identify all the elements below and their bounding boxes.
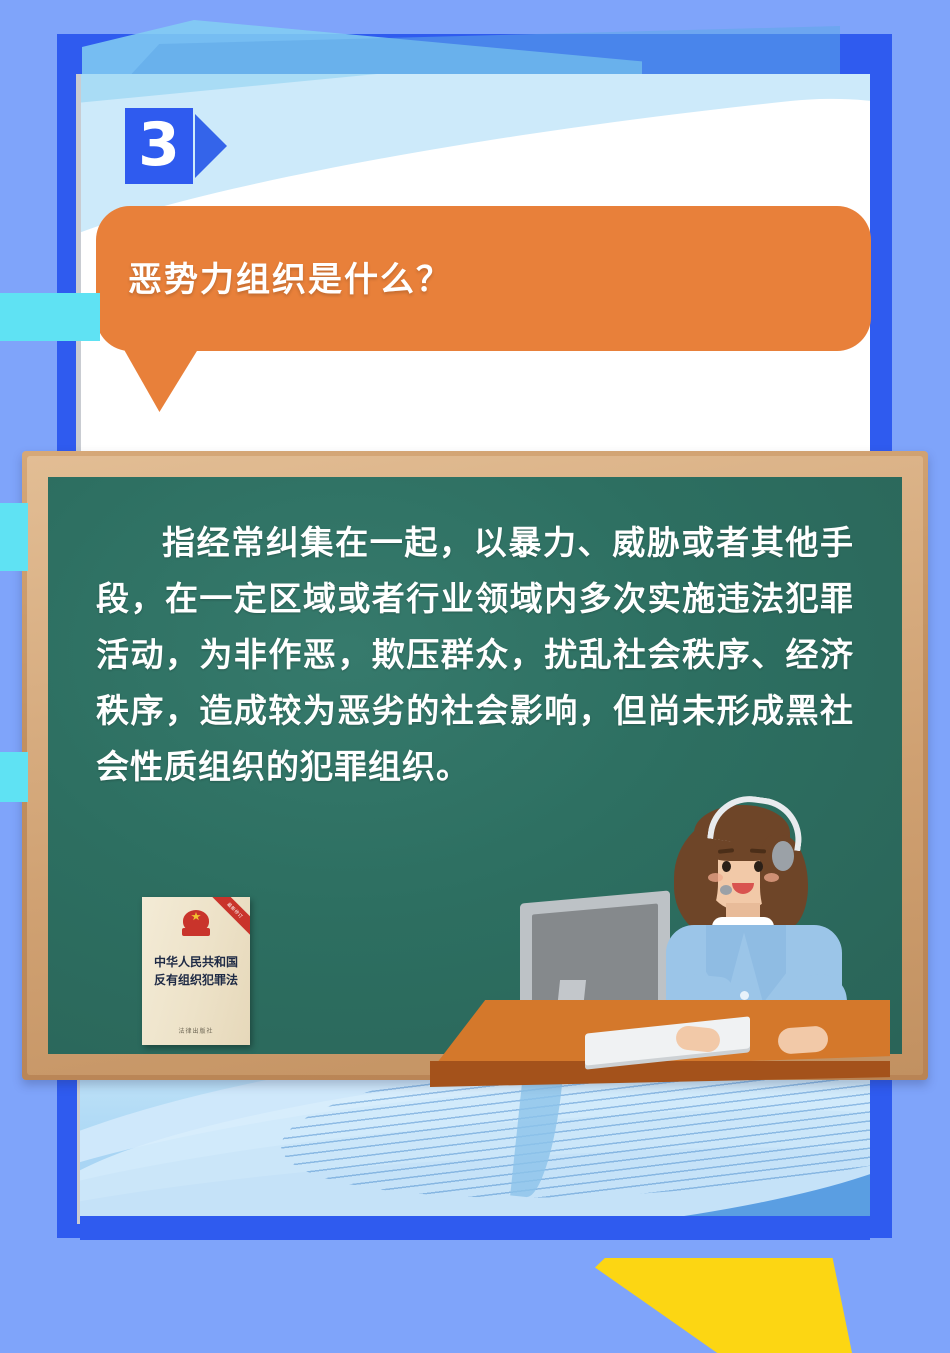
headset-earpad-icon <box>772 841 794 871</box>
book-corner-ribbon: 最新修订 <box>210 897 250 937</box>
jacket-button-1 <box>740 991 749 1000</box>
eye-right <box>754 861 763 872</box>
desk-edge <box>430 1061 890 1087</box>
book-title-line2: 反有组织犯罪法 <box>142 971 250 988</box>
poster-stage: 3 恶势力组织是什么？ 指经常纠集在一起，以暴力、威胁或者其他手段，在一定区域或… <box>0 0 950 1353</box>
eye-left <box>722 861 731 872</box>
step-number-label: 3 <box>125 108 193 184</box>
book-ribbon-label: 最新修订 <box>210 897 250 936</box>
headset-microphone-icon <box>720 885 732 895</box>
step-number-badge: 3 <box>125 108 197 184</box>
question-speech-bubble: 恶势力组织是什么？ <box>96 206 871 351</box>
law-book: 中华人民共和国 反有组织犯罪法 法律出版社 最新修订 <box>142 897 250 1045</box>
book-publisher: 法律出版社 <box>142 1026 250 1035</box>
cyan-tab-top <box>0 293 100 341</box>
emblem-base <box>182 928 210 936</box>
monitor-screen <box>532 903 658 1014</box>
bottom-blue-bar <box>80 1216 870 1240</box>
cheek-left <box>708 873 723 882</box>
operator-illustration <box>430 775 910 1115</box>
question-title: 恶势力组织是什么？ <box>128 252 452 301</box>
chevron-right-icon <box>195 114 227 178</box>
card-left-shadow <box>76 74 81 458</box>
yellow-triangle-decoration <box>595 1258 925 1353</box>
cheek-right <box>764 873 779 882</box>
hand-right <box>777 1025 829 1054</box>
cyan-tab-middle-upper <box>0 503 28 571</box>
book-title-line1: 中华人民共和国 <box>142 953 250 970</box>
blackboard-body-text: 指经常纠集在一起，以暴力、威胁或者其他手段，在一定区域或者行业领域内多次实施违法… <box>96 515 854 795</box>
cyan-tab-middle-lower <box>0 752 28 802</box>
national-emblem-icon <box>180 908 212 938</box>
